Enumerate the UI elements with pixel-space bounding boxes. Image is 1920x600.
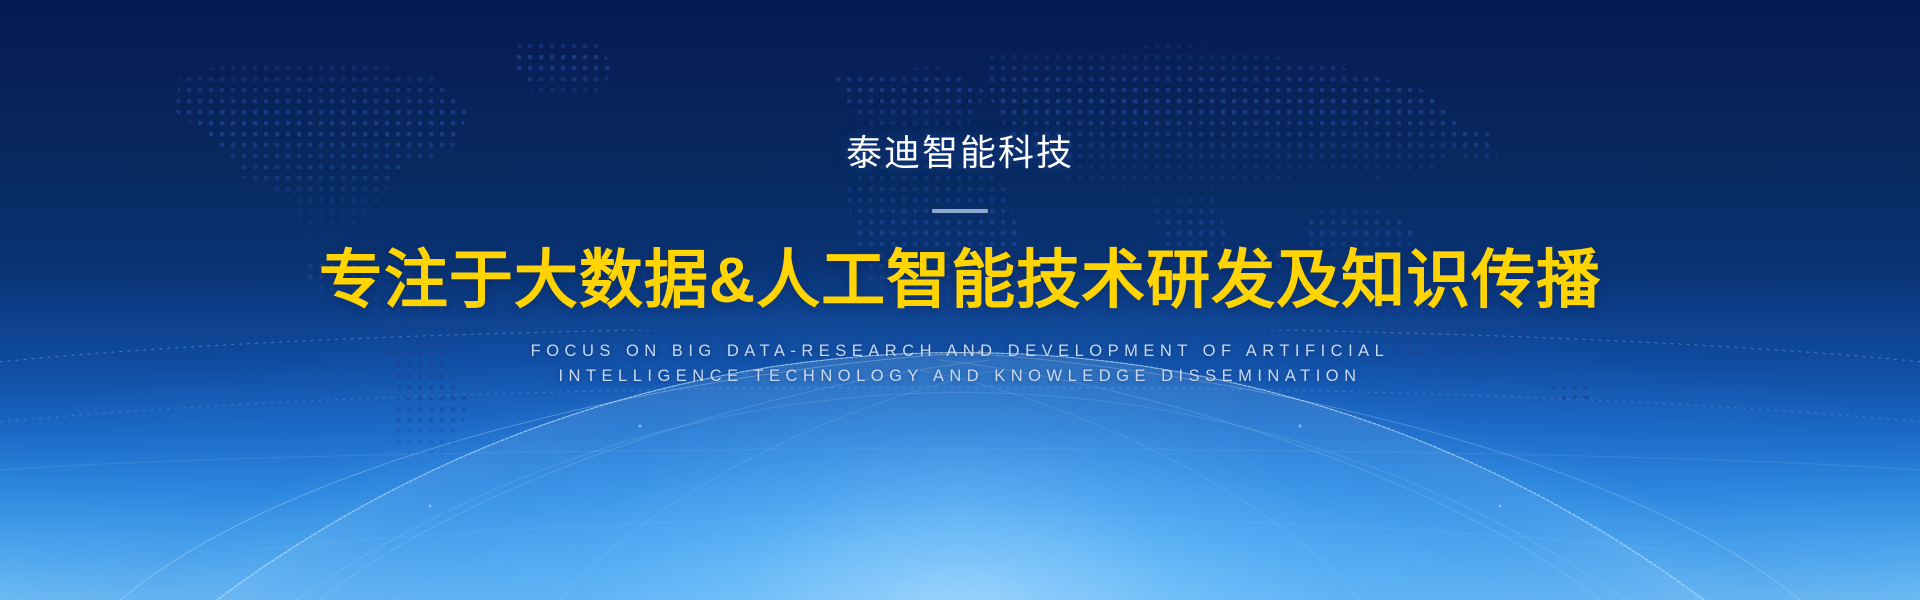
globe-outer-arc [0,352,1920,600]
globe-sphere [0,352,1920,600]
subtitle-english: FOCUS ON BIG DATA-RESEARCH AND DEVELOPME… [0,339,1920,389]
hero-banner: 泰迪智能科技 专注于大数据&人工智能技术研发及知识传播 FOCUS ON BIG… [0,0,1920,600]
globe-inner-arc [0,392,1920,600]
title-divider [932,209,988,213]
subtitle-line-1: FOCUS ON BIG DATA-RESEARCH AND DEVELOPME… [0,339,1920,364]
brand-name: 泰迪智能科技 [0,135,1920,171]
subtitle-line-2: INTELLIGENCE TECHNOLOGY AND KNOWLEDGE DI… [0,364,1920,389]
page-title: 专注于大数据&人工智能技术研发及知识传播 [0,246,1920,315]
divider-row [0,209,1920,213]
banner-content: 泰迪智能科技 专注于大数据&人工智能技术研发及知识传播 FOCUS ON BIG… [0,0,1920,389]
